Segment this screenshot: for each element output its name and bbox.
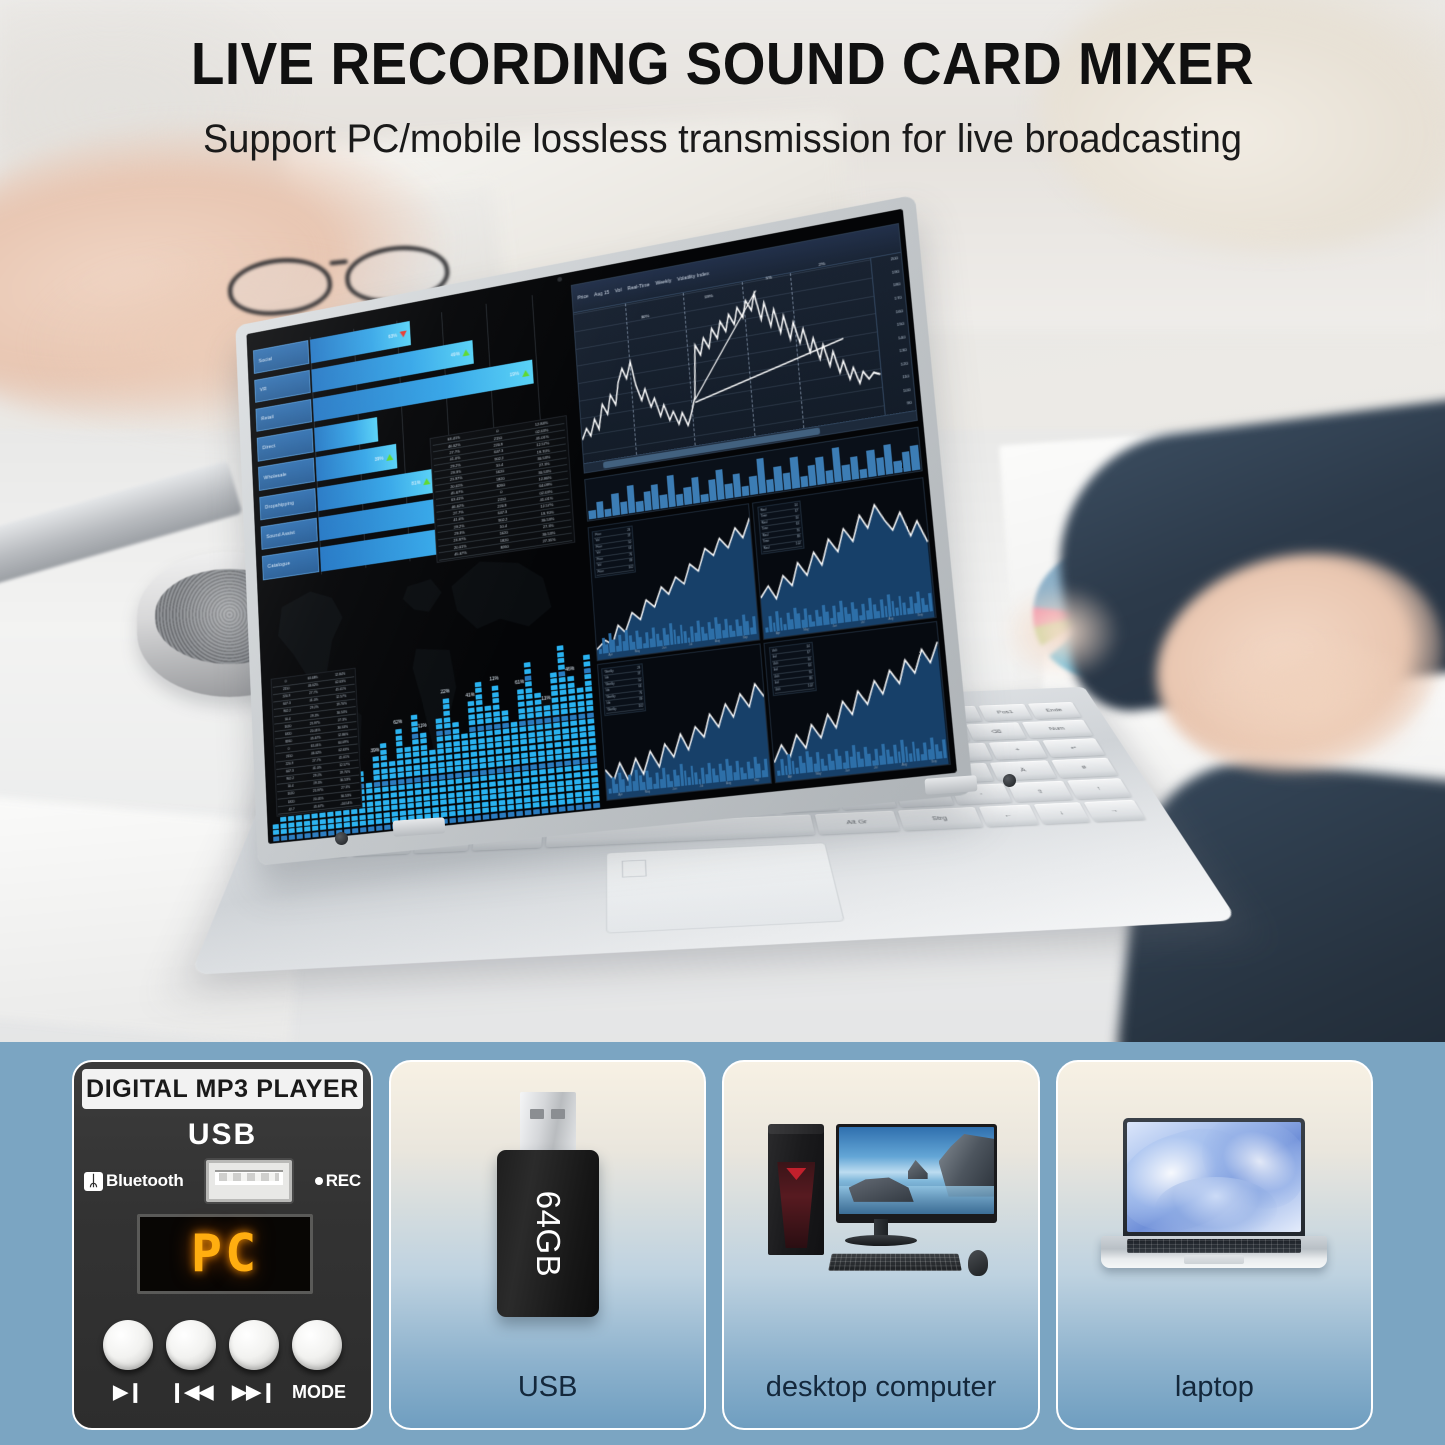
desktop-keyboard [829,1254,963,1271]
equalizer-cell [563,741,570,747]
equalizer-cell [479,751,486,757]
equalizer-cell [562,728,569,734]
equalizer-cell [375,819,382,824]
key-num[interactable]: Num [1022,720,1093,739]
previous-label: ❙◀◀ [166,1381,216,1404]
equalizer-cell [359,808,365,813]
bar-value-label: 63% [388,333,397,340]
axis-tick-label: Jul [700,784,704,788]
equalizer-cell [577,694,584,700]
table-cell: -04.54% [332,800,360,807]
equalizer-cell [521,765,528,771]
volume-bar [660,494,668,508]
equalizer-cell [561,722,568,728]
equalizer-cell [552,710,559,716]
key-ä[interactable]: Ä [990,760,1057,780]
laptop-product-keyboard [1127,1239,1301,1253]
equalizer-cell [545,730,552,736]
equalizer-cell [359,815,365,820]
equalizer-cell [502,729,509,735]
equalizer-cell [524,669,531,675]
equalizer-cell [455,779,462,785]
equalizer-cell [414,783,421,788]
mini-volume-bar [928,593,933,611]
lid-corner-dot-right [1003,774,1016,787]
equalizer-cell [504,748,511,754]
volume-bar [742,486,750,497]
equalizer-cell [588,738,595,744]
equalizer-cell [556,768,563,774]
equalizer-cell [448,799,455,804]
axis-tick-label: Apr [776,631,781,636]
equalizer-cell [525,694,532,700]
bluetooth-label: Bluetooth [106,1171,184,1191]
equalizer-cell [473,796,480,802]
equalizer-cell [495,749,502,755]
equalizer-cell [477,732,484,738]
control-labels: ▶❙ ❙◀◀ ▶▶❙ MODE [74,1378,371,1406]
equalizer-cell [490,807,497,813]
equalizer-cell [520,746,527,752]
equalizer-cell [465,810,472,816]
mode-label: MODE [292,1382,342,1403]
equalizer-cell [555,755,562,761]
equalizer-cell [550,672,557,678]
key-↑[interactable]: ↑ [1067,778,1131,799]
equalizer-cell [406,791,413,796]
key-strg[interactable]: Strg [897,807,983,831]
equalizer-cell [470,752,477,758]
equalizer-cell [421,757,428,762]
equalizer-cell [472,777,479,783]
equalizer-cell [573,766,580,772]
equalizer-cell [565,773,572,779]
equalizer-cell [578,720,585,726]
play-pause-label: ▶❙ [103,1381,153,1404]
bar-value-label: 19% [510,371,519,378]
equalizer-cell [396,754,403,759]
equalizer-cell [543,705,550,711]
equalizer-cell [384,825,391,830]
equalizer-cell [571,733,578,739]
equalizer-cell [376,825,383,830]
page-subtitle: Support PC/mobile lossless transmission … [36,117,1409,161]
equalizer-cell [551,691,558,697]
equalizer-cell [320,825,326,830]
pc-tower [768,1128,824,1255]
trackpad-mark [622,860,647,878]
equalizer-cell [412,746,419,751]
axis-tick-label: Jun [662,645,667,649]
equalizer-cell [480,776,487,782]
headline-block: LIVE RECORDING SOUND CARD MIXER Support … [0,34,1445,161]
equalizer-cell [524,810,531,816]
equalizer-cell [495,742,502,748]
equalizer-cell [445,748,452,754]
equalizer-cell [486,731,493,737]
equalizer-cell [474,815,481,821]
equalizer-cell [548,781,555,787]
equalizer-cell [562,734,569,740]
axis-tick-label: 180 [893,282,901,288]
volume-bar [701,493,709,502]
equalizer-cell [439,787,446,792]
equalizer-cell [468,720,475,726]
equalizer-cell [431,794,438,799]
equalizer-cell [431,788,438,793]
previous-button[interactable] [166,1320,216,1370]
equalizer-cell [485,724,492,730]
equalizer-cell [463,778,470,784]
next-label: ▶▶❙ [229,1381,279,1404]
equalizer-cell [494,723,501,729]
equalizer-cell [534,699,541,705]
axis-tick-label: Aug [726,781,731,786]
axis-tick-label: 90 [907,400,912,406]
equalizer-cell [438,768,445,773]
axis-tick-label: Sep [917,612,923,617]
equalizer-cell [491,813,498,819]
equalizer-cell [430,769,437,774]
volume-bar [910,445,920,471]
map-percentage-label: 61% [515,679,525,686]
equalizer-column [365,782,374,831]
equalizer-cell [550,807,557,813]
axis-tick-label: 140 [898,334,906,340]
equalizer-cell [489,781,496,787]
equalizer-cell [462,746,469,752]
key-#[interactable]: # [1051,758,1118,778]
equalizer-cell [373,763,379,768]
numeric-data-table: 63.41%012.84%46.62%215002.63%27.7%220.94… [429,415,574,563]
equalizer-cell [525,681,532,687]
mp3-module-title: DIGITAL MP3 PLAYER [82,1069,363,1109]
equalizer-cell [383,806,390,811]
axis-tick-label: May [635,649,640,654]
equalizer-cell [558,677,565,683]
laptop-product-trackpad [1184,1255,1244,1264]
equalizer-cell [582,771,589,777]
equalizer-cell [526,707,533,713]
equalizer-cell [328,830,334,835]
equalizer-cell [429,756,436,761]
volume-bar [651,484,660,509]
key-↵[interactable]: ↵ [1043,738,1106,757]
equalizer-cell [466,816,473,822]
equalizer-cell [480,782,487,788]
equalizer-cell [581,765,588,771]
equalizer-cell [397,773,404,778]
equalizer-cell [538,750,545,756]
equalizer-cell [579,726,586,732]
equalizer-cell [444,736,451,742]
equalizer-cell [398,791,405,796]
price-chart-header-item: Price [577,294,588,302]
equalizer-cell [311,820,317,825]
equalizer-cell [373,775,379,780]
equalizer-cell [432,800,439,805]
usb-port[interactable] [206,1160,292,1202]
equalizer-cell [486,737,493,743]
equalizer-cell [572,759,579,765]
key-⌫[interactable]: ⌫ [967,722,1027,740]
equalizer-cell [399,810,406,815]
equalizer-cell [555,748,562,754]
equalizer-cell [567,805,574,811]
equalizer-cell [449,811,456,816]
equalizer-cell [407,797,414,802]
laptop-lid: Social63%VR49%Retail19%DirectWholesale39… [235,195,973,866]
equalizer-cell [273,836,279,841]
equalizer-cell [566,792,573,798]
equalizer-cell [544,717,551,723]
map-percentage-label: 46% [565,666,575,673]
equalizer-cell [574,779,581,785]
product-marketing-image: EscF1F2F3F4F5F6F7F8F9F10F11F12DruckEinfE… [0,0,1445,1445]
equalizer-cell [463,772,470,778]
equalizer-cell [506,786,513,792]
volume-bar [756,457,766,493]
equalizer-cell [585,693,592,699]
trackpad[interactable] [606,842,845,933]
key-←[interactable]: ← [979,805,1039,827]
equalizer-cell [569,708,576,714]
wallpaper-bloom-c [1155,1177,1277,1232]
equalizer-cell [304,827,310,832]
equalizer-cell [327,818,333,823]
equalizer-cell [531,783,538,789]
equalizer-cell [512,753,519,759]
equalizer-cell [367,814,373,819]
equalizer-cell [457,817,464,823]
equalizer-cell [476,706,483,712]
equalizer-cell [319,813,325,818]
equalizer-column [288,816,295,840]
equalizer-cell [517,689,524,695]
equalizer-cell [389,773,396,778]
equalizer-cell [590,764,597,770]
equalizer-cell [396,748,403,753]
equalizer-cell [547,769,554,775]
equalizer-cell [550,684,557,690]
equalizer-cell [351,815,357,820]
equalizer-cell [454,753,461,759]
equalizer-cell [524,803,531,809]
equalizer-cell [498,800,505,806]
axis-tick-label: Jul [874,765,878,770]
wallpaper-sea-stack [908,1160,928,1179]
price-chart-header-item: Vol [615,287,622,294]
volume-bar [636,501,644,512]
equalizer-cell [549,794,556,800]
map-percentage-label: 11% [490,676,499,683]
next-button[interactable] [229,1320,279,1370]
equalizer-cell [413,758,420,763]
equalizer-cell [352,828,358,833]
equalizer-cell [463,765,470,771]
volume-bar [883,444,893,474]
key-ende[interactable]: Ende [1027,702,1081,719]
key-↓[interactable]: ↓ [1033,802,1090,824]
volume-bar [790,457,800,489]
equalizer-cell [501,710,508,716]
equalizer-cell [540,782,547,788]
equalizer-cell [415,802,422,807]
equalizer-cell [484,705,491,711]
volume-bar [766,479,774,493]
equalizer-cell [446,761,453,767]
volume-bar [588,510,596,520]
equalizer-cell [311,813,317,818]
desktop-computer-illustration [764,1120,997,1300]
product-cards: DIGITAL MP3 PLAYER USB ᛦ Bluetooth REC P… [0,1060,1445,1430]
equalizer-cell [319,819,325,824]
axis-tick-label: May [803,627,809,632]
equalizer-cell [532,790,539,796]
equalizer-cell [567,676,574,682]
equalizer-cell [360,827,366,832]
equalizer-cell [586,699,593,705]
usb-flash-drive: 64GB [497,1092,599,1317]
equalizer-cell [406,784,413,789]
axis-tick-label: May [645,789,650,794]
equalizer-cell [589,751,596,757]
equalizer-cell [404,747,411,752]
equalizer-cell [312,826,318,831]
axis-tick-label: 150 [897,321,905,327]
equalizer-cell [412,739,419,744]
equalizer-cell [569,701,576,707]
equalizer-cell [477,725,484,731]
equalizer-cell [546,743,553,749]
equalizer-cell [550,678,557,684]
equalizer-cell [580,739,587,745]
equalizer-cell [524,675,531,681]
equalizer-cell [413,764,420,769]
axis-tick-label: Jul [689,642,693,646]
equalizer-cell [453,747,460,753]
equalizer-cell [407,803,414,808]
equalizer-cell [575,804,582,810]
map-percentage-label: 39% [370,747,379,754]
equalizer-cell [469,739,476,745]
axis-tick-label: 130 [899,347,907,353]
equalizer-cell [591,770,598,776]
equalizer-cell [391,811,398,816]
key-pos1[interactable]: Pos1 [979,704,1032,721]
equalizer-cell [583,791,590,797]
equalizer-cell [423,801,430,806]
equalizer-cell [327,812,333,817]
equalizer-cell [560,703,567,709]
table-cell: 45.67% [305,803,333,810]
equalizer-cell [545,736,552,742]
equalizer-cell [335,811,341,816]
equalizer-cell [558,806,565,812]
equalizer-cell [541,808,548,814]
axis-tick-label: 200 [890,256,898,262]
equalizer-cell [435,718,442,724]
axis-tick-label: Aug [888,616,894,621]
equalizer-cell [498,793,505,799]
equalizer-cell [519,727,526,733]
equalizer-cell [447,786,454,792]
equalizer-cell [558,664,565,670]
equalizer-cell [544,711,551,717]
equalizer-cell [537,737,544,743]
equalizer-cell [296,828,302,833]
equalizer-cell [521,752,528,758]
equalizer-cell [506,792,513,798]
key-+[interactable]: + [988,741,1048,760]
equalizer-cell [557,652,564,658]
equalizer-cell [424,808,431,813]
equalizer-cell [374,782,380,787]
dashboard-right-column: PriceAug 15VolReal-TimeWeeklyVolatility … [567,209,957,810]
volume-bar [783,472,792,490]
equalizer-cell [577,700,584,706]
mode-button[interactable] [292,1320,342,1370]
equalizer-cell [446,767,453,773]
equalizer-cell [515,804,522,810]
key-alt gr[interactable]: Alt Gr [815,811,899,835]
equalizer-cell [382,781,389,786]
equalizer-cell [374,794,380,799]
equalizer-cell [526,700,533,706]
trend-up-icon [423,478,430,486]
equalizer-cell [366,795,372,800]
trend-up-icon [521,369,529,377]
equalizer-cell [571,740,578,746]
equalizer-cell [288,816,294,821]
axis-tick-label: 110 [902,374,909,380]
volume-bar [867,450,877,477]
volume-bar [620,502,628,515]
equalizer-cell [328,824,334,829]
equalizer-cell [528,738,535,744]
equalizer-cell [383,818,390,823]
equalizer-cell [335,823,341,828]
volume-bar [800,476,808,488]
equalizer-cell [537,744,544,750]
axis-tick-label: Jun [832,624,837,629]
equalizer-cell [407,809,414,814]
equalizer-cell [436,724,443,730]
play-pause-button[interactable] [103,1320,153,1370]
equalizer-cell [536,731,543,737]
equalizer-cell [422,782,429,787]
equalizer-cell [367,807,373,812]
key-→[interactable]: → [1084,800,1146,822]
equalizer-cell [546,749,553,755]
equalizer-cell [557,793,564,799]
equalizer-cell [280,817,286,822]
mini-chart-legend: Price24Vol37Price50Vol63Price76Vol89Pric… [592,525,636,578]
equalizer-cell [584,667,591,673]
equalizer-cell [556,645,563,651]
axis-tick-label: Jul [860,620,864,624]
equalizer-cell [492,692,499,698]
equalizer-cell [391,799,398,804]
usb-card: 64GB USB [389,1060,706,1430]
equalizer-cell [303,814,309,819]
key-⇧[interactable]: ⇧ [1007,781,1073,802]
equalizer-cell [452,728,459,734]
equalizer-cell [539,769,546,775]
equalizer-cell [514,779,521,785]
equalizer-cell [421,751,428,756]
equalizer-cell [575,798,582,804]
